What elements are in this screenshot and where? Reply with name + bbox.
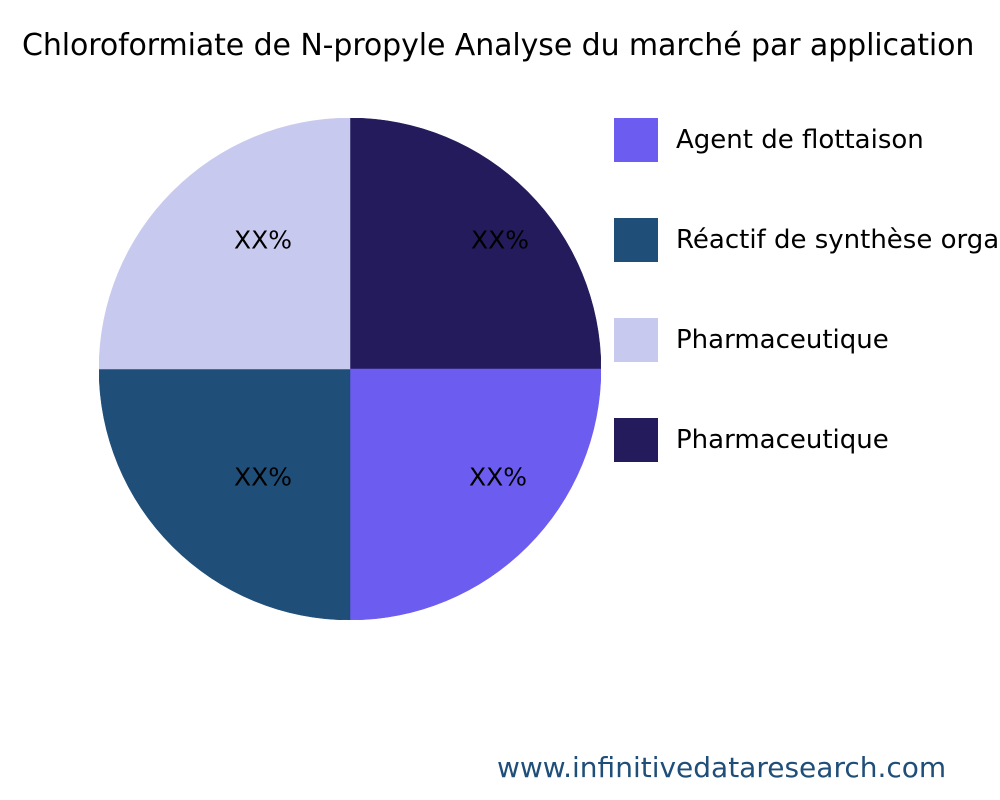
legend-item-label: Pharmaceutique [676, 425, 889, 455]
legend-item-1[interactable]: Réactif de synthèse organique [614, 218, 1000, 318]
page-title: Chloroformiate de N-propyle Analyse du m… [22, 27, 1000, 65]
legend-swatch-icon [614, 418, 658, 462]
pie-slice-label-bottom-left: XX% [234, 465, 292, 490]
legend-item-2[interactable]: Pharmaceutique [614, 318, 1000, 418]
chart-page: Chloroformiate de N-propyle Analyse du m… [0, 0, 1000, 800]
legend-item-3[interactable]: Pharmaceutique [614, 418, 1000, 518]
legend-swatch-icon [614, 318, 658, 362]
pie-chart: XX% XX% XX% XX% [99, 118, 601, 620]
pie-slice-top-left[interactable] [99, 118, 350, 369]
source-url[interactable]: www.infinitivedataresearch.com [497, 752, 946, 784]
pie-slice-label-bottom-right: XX% [469, 465, 527, 490]
pie-svg [99, 118, 601, 620]
legend-swatch-icon [614, 218, 658, 262]
pie-slice-bottom-right[interactable] [350, 369, 601, 620]
legend: Agent de flottaison Réactif de synthèse … [614, 118, 1000, 518]
legend-item-label: Pharmaceutique [676, 325, 889, 355]
pie-slice-bottom-left[interactable] [99, 369, 350, 620]
pie-slice-label-top-left: XX% [234, 228, 292, 253]
legend-item-label: Réactif de synthèse organique [676, 225, 1000, 255]
pie-slice-label-top-right: XX% [471, 228, 529, 253]
legend-swatch-icon [614, 118, 658, 162]
legend-item-label: Agent de flottaison [676, 125, 924, 155]
legend-item-0[interactable]: Agent de flottaison [614, 118, 1000, 218]
